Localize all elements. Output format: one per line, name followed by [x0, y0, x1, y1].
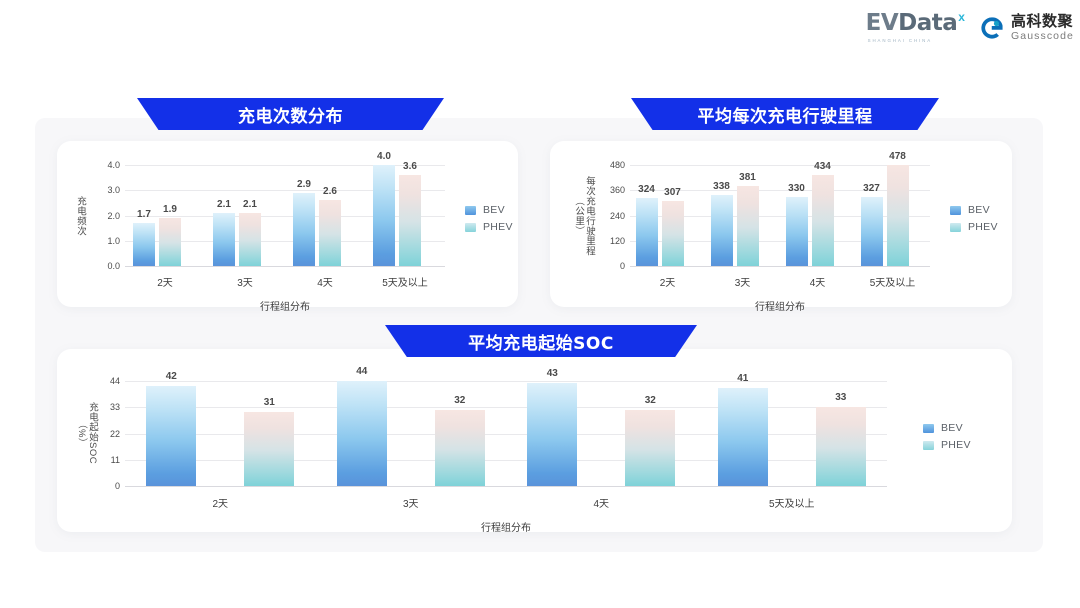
y-axis-tick-label: 480 [588, 160, 625, 170]
bar-bev-0[interactable] [636, 198, 658, 266]
bar-bev-0[interactable] [133, 223, 155, 266]
gridline [630, 165, 930, 166]
y-axis-tick-label: 0.0 [81, 261, 120, 271]
chart-title-banner-avg-start-soc: 平均充电起始SOC [385, 325, 697, 357]
legend-item-bev[interactable]: BEV [923, 422, 971, 434]
bar-value-label: 41 [710, 373, 776, 384]
gridline [125, 460, 887, 461]
legend-label: PHEV [483, 221, 513, 233]
bar-value-label: 478 [879, 151, 917, 162]
legend-label: PHEV [941, 439, 971, 451]
legend-label: PHEV [968, 221, 998, 233]
legend-item-bev[interactable]: BEV [465, 204, 513, 216]
legend-swatch-bev-icon [950, 206, 961, 215]
bar-bev-1[interactable] [711, 195, 733, 266]
x-axis-tick-label: 4天 [496, 495, 707, 510]
gausscode-en-text: Gausscode [1011, 31, 1074, 42]
bar-value-label: 2.6 [311, 186, 349, 197]
x-axis-title: 行程组分布 [630, 298, 930, 313]
bar-phev-1[interactable] [737, 186, 759, 266]
y-axis-tick-label: 2.0 [81, 211, 120, 221]
bar-bev-2[interactable] [293, 193, 315, 266]
gridline [125, 266, 445, 267]
gridline [125, 486, 887, 487]
bar-bev-1[interactable] [337, 381, 387, 486]
gausscode-mark-icon [979, 15, 1005, 41]
gridline [125, 216, 445, 217]
chart-card-charge-frequency: 充电频次4.03.02.01.00.01.71.92天2.12.13天2.92.… [57, 141, 518, 307]
y-axis-tick-label: 0 [588, 261, 625, 271]
legend-label: BEV [483, 204, 505, 216]
bar-value-label: 33 [808, 392, 874, 403]
y-axis-tick-label: 11 [93, 455, 120, 465]
y-axis-title-line: （%） [76, 419, 87, 448]
legend-label: BEV [941, 422, 963, 434]
bar-value-label: 434 [804, 161, 842, 172]
bar-phev-1[interactable] [435, 410, 485, 486]
bar-phev-0[interactable] [244, 412, 294, 486]
bar-bev-3[interactable] [718, 388, 768, 486]
x-axis-tick-label: 5天及以上 [845, 274, 940, 289]
bar-value-label: 330 [778, 183, 816, 194]
y-axis-tick-label: 33 [93, 402, 120, 412]
bar-value-label: 44 [329, 366, 395, 377]
chart-legend: BEVPHEV [465, 204, 513, 233]
bar-phev-3[interactable] [816, 407, 866, 486]
bar-phev-0[interactable] [662, 201, 684, 266]
bar-bev-1[interactable] [213, 213, 235, 266]
bar-value-label: 42 [138, 371, 204, 382]
gridline [630, 266, 930, 267]
y-axis-tick-label: 0 [93, 481, 120, 491]
bar-value-label: 31 [236, 397, 302, 408]
page-header: EV Data x SHANGHAI CHINA 高科数聚 Gausscode [0, 0, 1080, 64]
y-axis-tick-label: 1.0 [81, 236, 120, 246]
bar-value-label: 307 [654, 187, 692, 198]
legend-item-phev[interactable]: PHEV [950, 221, 998, 233]
bar-value-label: 2.1 [231, 199, 269, 210]
evdata-logo-data-text: Data [898, 12, 957, 35]
x-axis-tick-label: 5天及以上 [687, 495, 898, 510]
x-axis-title: 行程组分布 [125, 519, 887, 534]
legend-swatch-bev-icon [465, 206, 476, 215]
bar-phev-2[interactable] [625, 410, 675, 486]
evdata-logo: EV Data x SHANGHAI CHINA [866, 12, 965, 43]
bar-phev-2[interactable] [319, 200, 341, 266]
legend-item-phev[interactable]: PHEV [465, 221, 513, 233]
y-axis-title-line: （公里） [573, 196, 584, 236]
legend-swatch-phev-icon [950, 223, 961, 232]
bar-bev-3[interactable] [861, 197, 883, 266]
y-axis-tick-label: 120 [588, 236, 625, 246]
bar-value-label: 32 [617, 395, 683, 406]
bar-value-label: 381 [729, 172, 767, 183]
chart-card-avg-range: 每次充电行驶里程（公里）48036024012003243072天3383813… [550, 141, 1012, 307]
bar-phev-1[interactable] [239, 213, 261, 266]
chart-title-banner-charge-frequency: 充电次数分布 [137, 98, 444, 130]
bar-value-label: 1.9 [151, 204, 189, 215]
gausscode-cn-text: 高科数聚 [1011, 14, 1074, 29]
y-axis-tick-label: 240 [588, 211, 625, 221]
y-axis-tick-label: 360 [588, 185, 625, 195]
bar-phev-3[interactable] [887, 165, 909, 266]
bar-bev-2[interactable] [527, 383, 577, 486]
evdata-logo-x-icon: x [958, 10, 965, 24]
bar-bev-2[interactable] [786, 197, 808, 266]
y-axis-tick-label: 3.0 [81, 185, 120, 195]
bar-value-label: 43 [519, 368, 585, 379]
legend-swatch-bev-icon [923, 424, 934, 433]
legend-swatch-phev-icon [923, 441, 934, 450]
bar-phev-2[interactable] [812, 175, 834, 266]
evdata-logo-ev-text: EV [866, 12, 899, 35]
chart-title-banner-avg-range: 平均每次充电行驶里程 [631, 98, 939, 130]
y-axis-tick-label: 22 [93, 429, 120, 439]
gausscode-logo: 高科数聚 Gausscode [979, 14, 1074, 42]
bar-phev-3[interactable] [399, 175, 421, 266]
bar-value-label: 327 [853, 183, 891, 194]
bar-bev-0[interactable] [146, 386, 196, 486]
bar-value-label: 3.6 [391, 161, 429, 172]
x-axis-title: 行程组分布 [125, 298, 445, 313]
y-axis-tick-label: 4.0 [81, 160, 120, 170]
x-axis-tick-label: 3天 [306, 495, 517, 510]
legend-label: BEV [968, 204, 990, 216]
bar-phev-0[interactable] [159, 218, 181, 266]
evdata-logo-subtitle: SHANGHAI CHINA [868, 38, 932, 43]
y-axis-tick-label: 44 [93, 376, 120, 386]
gridline [125, 190, 445, 191]
chart-card-avg-start-soc: 充电起始SOC（%）44332211042312天44323天43324天413… [57, 349, 1012, 532]
legend-item-phev[interactable]: PHEV [923, 439, 971, 451]
x-axis-tick-label: 2天 [115, 495, 326, 510]
x-axis-tick-label: 5天及以上 [355, 274, 455, 289]
legend-swatch-phev-icon [465, 223, 476, 232]
gridline [125, 434, 887, 435]
logo-group: EV Data x SHANGHAI CHINA 高科数聚 Gausscode [866, 12, 1074, 43]
chart-legend: BEVPHEV [923, 422, 971, 451]
bar-value-label: 32 [427, 395, 493, 406]
bar-bev-3[interactable] [373, 165, 395, 266]
legend-item-bev[interactable]: BEV [950, 204, 998, 216]
chart-legend: BEVPHEV [950, 204, 998, 233]
